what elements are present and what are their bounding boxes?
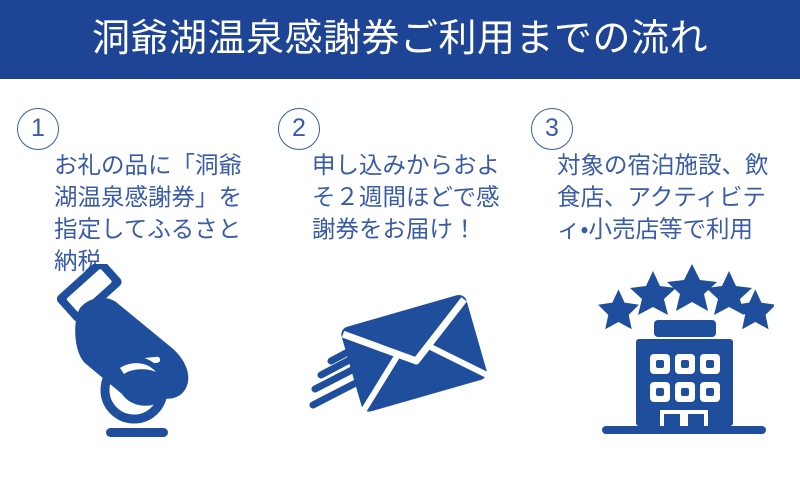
flying-envelope-icon [305, 279, 505, 429]
infographic-flow-diagram: 洞爺湖温泉感謝券ご利用までの流れ 1 お礼の品に「洞爺 湖温泉感謝券」を 指定し… [0, 0, 800, 495]
step-1-number-label: 1 [31, 116, 45, 141]
step-3-number-label: 3 [545, 116, 559, 141]
five-star-hotel-building-icon [594, 264, 774, 439]
header-banner: 洞爺湖温泉感謝券ご利用までの流れ [0, 0, 800, 79]
hand-dropping-coin-icon [52, 264, 212, 444]
step-1: 1 お礼の品に「洞爺 湖温泉感謝券」を 指定してふるさと 納税 [0, 79, 266, 495]
step-2-number-label: 2 [292, 116, 306, 141]
step-1-number-badge: 1 [17, 108, 59, 150]
step-1-description: お礼の品に「洞爺 湖温泉感謝券」を 指定してふるさと 納税 [54, 149, 254, 277]
step-3-number-badge: 3 [531, 108, 573, 150]
steps-container: 1 お礼の品に「洞爺 湖温泉感謝券」を 指定してふるさと 納税 [0, 79, 800, 495]
step-3: 3 対象の宿泊施設、飲 食店、アクティビテ ィ・小売店等で利用 [508, 79, 774, 495]
step-3-description: 対象の宿泊施設、飲 食店、アクティビテ ィ・小売店等で利用 [557, 149, 783, 245]
page-title: 洞爺湖温泉感謝券ご利用までの流れ [92, 20, 708, 58]
step-2-number-badge: 2 [278, 108, 320, 150]
step-2-description: 申し込みからおよ そ２週間ほどで感 謝券をお届け！ [312, 149, 518, 245]
